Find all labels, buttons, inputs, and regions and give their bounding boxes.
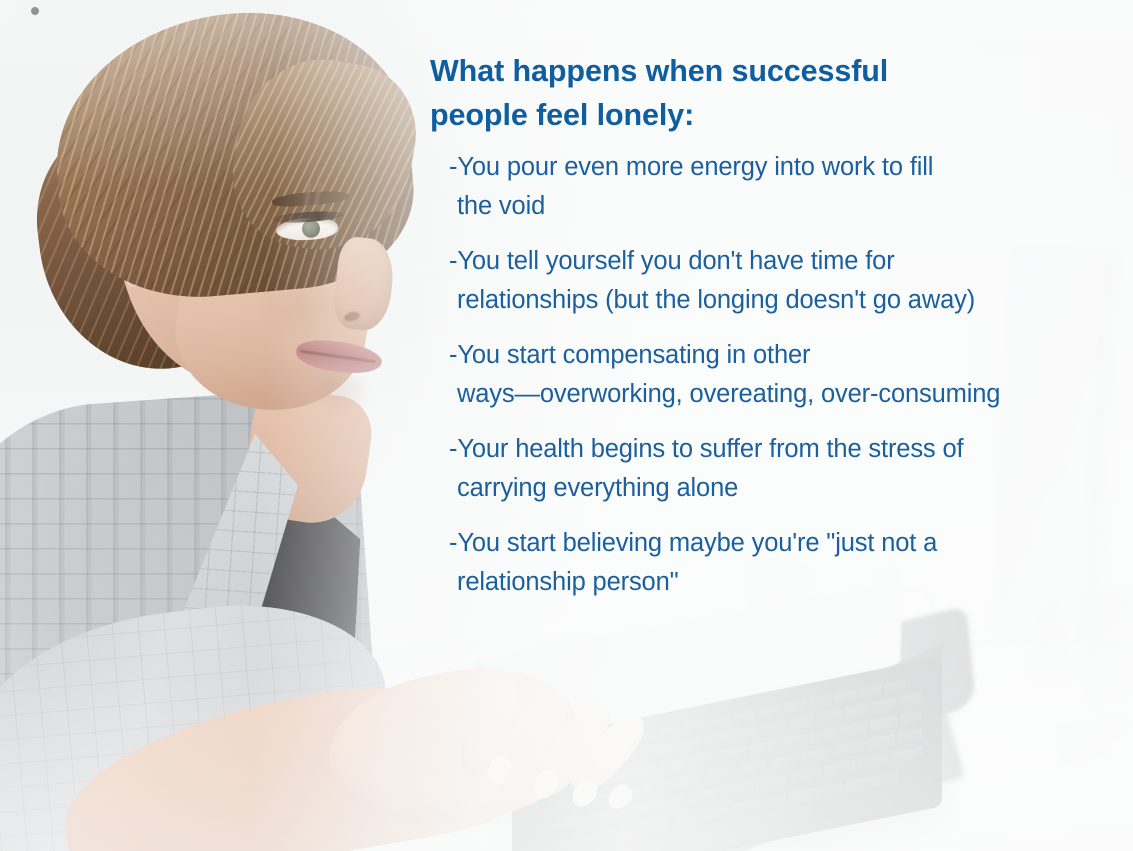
headline-line-1: What happens when successful [430,49,1050,93]
list-item: -You tell yourself you don't have time f… [449,242,1089,320]
bullet-list: -You pour even more energy into work to … [449,148,1089,618]
bullet-line-1: -You start compensating in other [449,341,810,369]
bullet-line-2: the void [449,187,1089,226]
list-item: -Your health begins to suffer from the s… [449,430,1089,508]
bullet-line-1: -You tell yourself you don't have time f… [449,247,895,275]
list-item: -You pour even more energy into work to … [449,148,1089,226]
slide-canvas: What happens when successful people feel… [0,0,1133,851]
bullet-line-2: relationship person" [449,563,1089,602]
headline-line-2: people feel lonely: [430,93,1050,137]
list-item: -You start believing maybe you're "just … [449,524,1089,602]
bullet-line-2: carrying everything alone [449,469,1089,508]
list-item: -You start compensating in other ways—ov… [449,336,1089,414]
page-title: What happens when successful people feel… [430,49,1050,137]
text-overlay: What happens when successful people feel… [0,0,1133,851]
bullet-line-2: ways—overworking, overeating, over-consu… [449,375,1089,414]
bullet-line-1: -You start believing maybe you're "just … [449,529,937,557]
bullet-line-2: relationships (but the longing doesn't g… [449,281,1089,320]
bullet-line-1: -Your health begins to suffer from the s… [449,435,963,463]
bullet-line-1: -You pour even more energy into work to … [449,153,933,181]
